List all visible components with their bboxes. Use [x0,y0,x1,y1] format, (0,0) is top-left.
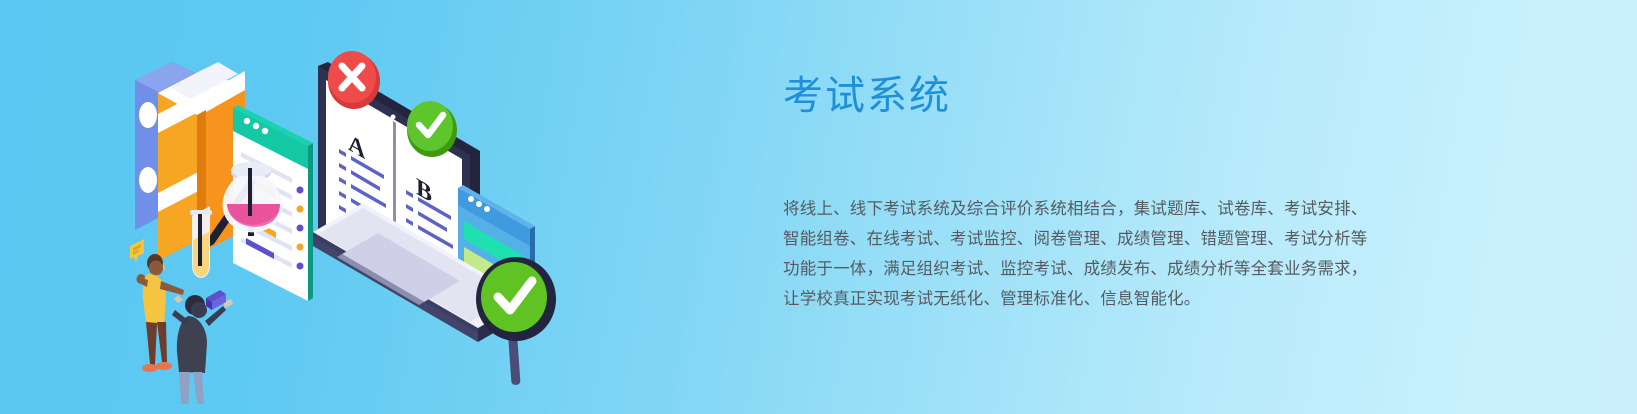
person-man-icon [172,295,233,404]
page-title: 考试系统 [783,72,1483,120]
exam-system-banner: A B [0,0,1637,414]
description-line: 让学校真正实现考试无纸化、管理标准化、信息智能化。 [783,284,1483,314]
badge-correct-icon [407,101,457,157]
exam-system-illustration: A B [60,18,630,404]
description-line: 将线上、线下考试系统及综合评价系统相结合，集试题库、试卷库、考试安排、 [783,194,1483,224]
badge-wrong-icon [328,51,380,109]
banner-description: 将线上、线下考试系统及综合评价系统相结合，集试题库、试卷库、考试安排、 智能组卷… [783,194,1483,314]
description-line: 功能于一体，满足组织考试、监控考试、成绩发布、成绩分析等全套业务需求， [783,254,1483,284]
description-line: 智能组卷、在线考试、考试监控、阅卷管理、成绩管理、错题管理、考试分析等 [783,224,1483,254]
magnifier-check-icon [476,257,556,385]
banner-copy: 考试系统 将线上、线下考试系统及综合评价系统相结合，集试题库、试卷库、考试安排、… [783,72,1483,314]
chat-bubble-icon [130,239,144,262]
